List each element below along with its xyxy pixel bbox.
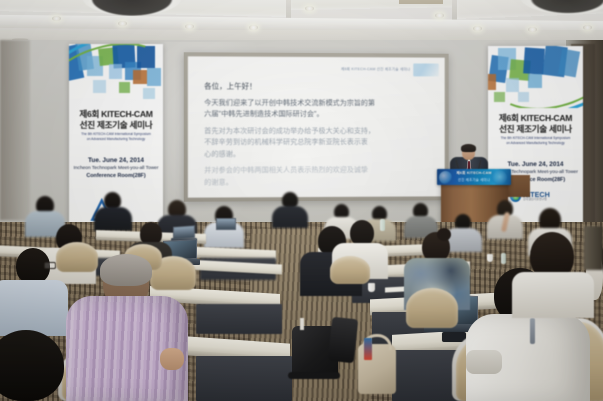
slide-header-title: 제6회 KITECH-CAM 선진 제조기술 세미나 <box>341 67 410 72</box>
attendee-arm <box>160 348 184 370</box>
banner-left-date: Tue. June 24, 2014 <box>69 156 163 165</box>
banner-left-venue-line1: Incheon Technopark Meet-you-all Tower <box>69 166 163 173</box>
banner-right-title-line2: 선진 제조기술 세미나 <box>488 123 583 135</box>
water-bottle[interactable] <box>380 219 385 231</box>
paper-cup[interactable] <box>368 283 375 292</box>
ceiling-downlight <box>435 13 444 18</box>
attendee-arm <box>466 350 502 374</box>
ceiling-downlight <box>185 24 194 29</box>
lanyard <box>530 318 535 344</box>
slide-header-graphic <box>413 63 439 76</box>
podium-sign-line2: 선진 제조기술 세미나 <box>437 177 511 182</box>
podium-sign-line1: 제6회 KITECH-CAM <box>437 171 511 176</box>
chair-back <box>56 242 98 272</box>
slide-header: 제6회 KITECH-CAM 선진 제조기술 세미나 <box>341 62 439 76</box>
projection-screen: 제6회 KITECH-CAM 선진 제조기술 세미나 各位，上午好！ 今天我们迎… <box>188 56 445 197</box>
slide-paragraph: 并对参会的中韩两国相关人员表示热烈的欢迎及诚挚 <box>204 165 433 177</box>
ceiling-downlight <box>305 6 314 11</box>
slide-paragraph: 六届"中韩先进制造技术国际研讨会"。 <box>204 109 433 121</box>
backpack-base <box>288 372 340 379</box>
banner-left-graphic <box>69 44 163 106</box>
slide-paragraph: 首先对为本次研讨会的成功举办给予极大关心和支持， <box>204 126 433 138</box>
ceiling-downlight <box>473 26 482 31</box>
desk-modesty-panel <box>196 356 292 401</box>
banner-left-venue-line2: Conference Room(28F) <box>69 173 163 181</box>
chair-back <box>330 256 370 284</box>
grey-hair <box>100 254 152 286</box>
laptop-screen[interactable] <box>216 218 236 230</box>
ceiling-soffit-box <box>399 0 443 4</box>
slide-paragraph: 今天我们迎来了以开创中韩技术交流新模式为宗旨的第 <box>204 98 433 110</box>
banner-right-subtitle-line2: on Advanced Manufacturing Technology <box>488 141 583 145</box>
ceiling-downlight <box>118 21 127 26</box>
ceiling-downlight <box>583 25 592 30</box>
wall-left-corner <box>0 40 30 220</box>
desk-modesty-panel <box>196 304 282 334</box>
banner-right-date: Tue. June 24, 2014 <box>488 160 583 169</box>
wall-base-trim <box>584 226 603 270</box>
podium-sign: 제6회 KITECH-CAM 선진 제조기술 세미나 <box>437 169 511 185</box>
chair-back <box>406 288 458 328</box>
banner-left-title-line2: 선진 제조기술 세미나 <box>69 119 163 131</box>
attendee-torso <box>94 207 132 231</box>
kitech-sub-label: 한국생산기술연구원 <box>523 198 550 202</box>
slide-paragraph: 不辞辛劳到访的机械科学研究总院李新亚院长表示衷 <box>204 137 433 149</box>
ceiling <box>0 0 603 44</box>
conference-photo-scene: 제6회 KITECH-CAM 선진 제조기술 세미나 The 6th KITEC… <box>0 0 603 401</box>
speaker-hair <box>461 144 476 152</box>
slide-paragraph: 各位，上午好！ <box>204 81 433 94</box>
ceiling-downlight <box>249 25 258 30</box>
slide-paragraph: 心的感谢。 <box>204 149 433 161</box>
water-bottle[interactable] <box>501 253 506 264</box>
slide-body: 各位，上午好！ 今天我们迎来了以开创中韩技术交流新模式为宗旨的第 六届"中韩先进… <box>204 81 433 189</box>
slide-paragraph: 的谢意。 <box>204 176 433 188</box>
ceiling-downlight <box>528 27 537 32</box>
paper-cup[interactable] <box>487 254 493 262</box>
hair-bun <box>437 228 451 241</box>
attendee-torso <box>0 280 68 336</box>
banner-left-subtitle-line1: The 6th KITECH-CAM International Symposi… <box>69 132 163 136</box>
handout-paper[interactable] <box>385 286 405 292</box>
ceiling-downlight <box>52 16 61 21</box>
banner-right-graphic <box>488 46 583 108</box>
banner-right-subtitle-line1: The 6th KITECH-CAM International Symposi… <box>488 136 583 140</box>
eyeglasses <box>44 262 56 269</box>
backpack-tag <box>300 318 304 330</box>
projection-screen-frame: 제6회 KITECH-CAM 선진 제조기술 세미나 各位，上午好！ 今天我们迎… <box>184 52 449 201</box>
attendee-torso <box>272 206 308 228</box>
backpack-strap <box>328 317 358 363</box>
banner-left-subtitle-line2: on Advanced Manufacturing Technology <box>69 137 163 141</box>
attendee-torso <box>512 272 594 318</box>
handbag-tag <box>364 338 372 360</box>
